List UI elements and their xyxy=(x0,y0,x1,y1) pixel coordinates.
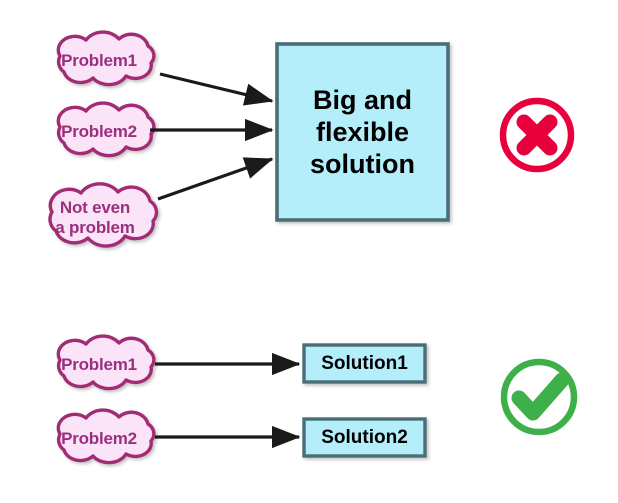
cloud-problem2-bottom[interactable] xyxy=(58,410,154,463)
section-preferred-pattern xyxy=(58,336,574,463)
cloud-problem1[interactable] xyxy=(58,32,154,85)
box-big-flexible-solution[interactable] xyxy=(277,44,448,220)
cloud-not-even-a-problem[interactable] xyxy=(50,184,157,246)
box-solution1[interactable] xyxy=(304,345,425,382)
diagram-canvas xyxy=(0,0,618,503)
box-solution2[interactable] xyxy=(304,419,425,456)
cloud-problem2[interactable] xyxy=(58,103,154,156)
check-circle-icon xyxy=(504,362,574,432)
arrow-problem1-to-big-solution xyxy=(160,74,272,101)
arrow-not-even-a-problem-to-big-solution xyxy=(158,159,272,199)
section-anti-pattern xyxy=(50,32,571,246)
cloud-problem1-bottom[interactable] xyxy=(58,336,154,389)
cross-circle-icon xyxy=(503,101,571,169)
